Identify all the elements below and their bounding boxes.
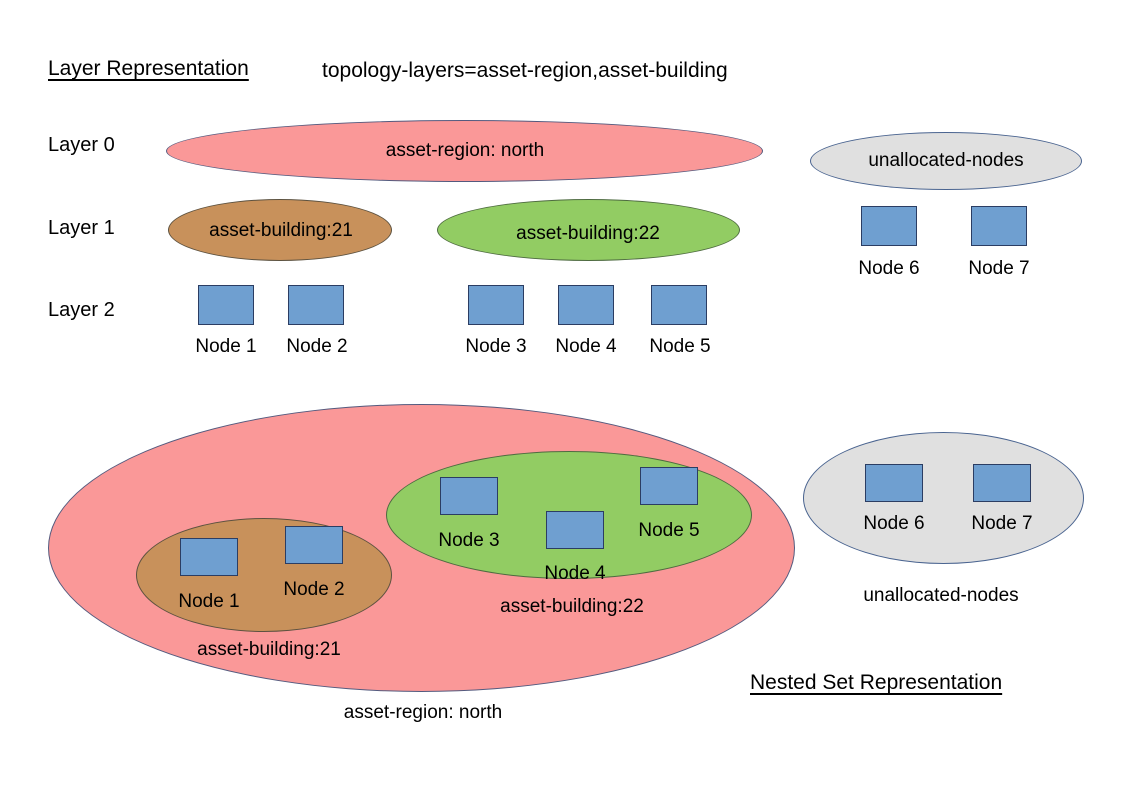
layer2-node-label-5: Node 5 [649, 337, 710, 356]
topology-layers-parameter: topology-layers=asset-region,asset-build… [322, 60, 728, 81]
nested-node-rect-5[interactable] [640, 467, 698, 505]
layer2-node-label-2: Node 2 [286, 337, 347, 356]
layer1-asset-building-22-label: asset-building:22 [516, 224, 660, 243]
layer-2-label: Layer 2 [48, 300, 115, 320]
nested-node-label-3: Node 3 [438, 531, 499, 550]
nested-node-rect-7[interactable] [973, 464, 1031, 502]
nested-node-label-5: Node 5 [638, 521, 699, 540]
layer-representation-heading: Layer Representation [48, 58, 249, 79]
nested-asset-building-21-ellipse[interactable] [136, 518, 392, 632]
nested-node-label-1: Node 1 [178, 592, 239, 611]
nested-unallocated-nodes-ellipse[interactable] [803, 432, 1084, 564]
layer2-node-rect-4[interactable] [558, 285, 614, 325]
layer1-node-label-7: Node 7 [968, 259, 1029, 278]
layer0-unallocated-nodes-label: unallocated-nodes [868, 151, 1023, 170]
layer1-asset-building-21-label: asset-building:21 [209, 221, 353, 240]
layer0-asset-region-label: asset-region: north [386, 141, 544, 160]
nested-asset-building-21-label: asset-building:21 [197, 640, 341, 659]
nested-node-rect-3[interactable] [440, 477, 498, 515]
layer-1-label: Layer 1 [48, 218, 115, 238]
nested-set-representation-heading: Nested Set Representation [750, 672, 1002, 693]
layer2-node-label-4: Node 4 [555, 337, 616, 356]
nested-node-rect-4[interactable] [546, 511, 604, 549]
nested-node-label-7: Node 7 [971, 514, 1032, 533]
layer2-node-rect-5[interactable] [651, 285, 707, 325]
layer2-node-label-1: Node 1 [195, 337, 256, 356]
layer2-node-rect-1[interactable] [198, 285, 254, 325]
nested-node-label-4: Node 4 [544, 564, 605, 583]
nested-node-rect-6[interactable] [865, 464, 923, 502]
nested-node-label-2: Node 2 [283, 580, 344, 599]
nested-asset-region-label: asset-region: north [344, 703, 502, 722]
diagram-canvas: Layer Representation topology-layers=ass… [0, 0, 1123, 794]
nested-node-rect-1[interactable] [180, 538, 238, 576]
layer1-node-rect-6[interactable] [861, 206, 917, 246]
nested-unallocated-nodes-label: unallocated-nodes [863, 586, 1018, 605]
nested-node-label-6: Node 6 [863, 514, 924, 533]
layer1-node-rect-7[interactable] [971, 206, 1027, 246]
nested-node-rect-2[interactable] [285, 526, 343, 564]
nested-asset-building-22-label: asset-building:22 [500, 597, 644, 616]
layer-0-label: Layer 0 [48, 135, 115, 155]
layer2-node-label-3: Node 3 [465, 337, 526, 356]
layer2-node-rect-2[interactable] [288, 285, 344, 325]
layer2-node-rect-3[interactable] [468, 285, 524, 325]
layer1-node-label-6: Node 6 [858, 259, 919, 278]
